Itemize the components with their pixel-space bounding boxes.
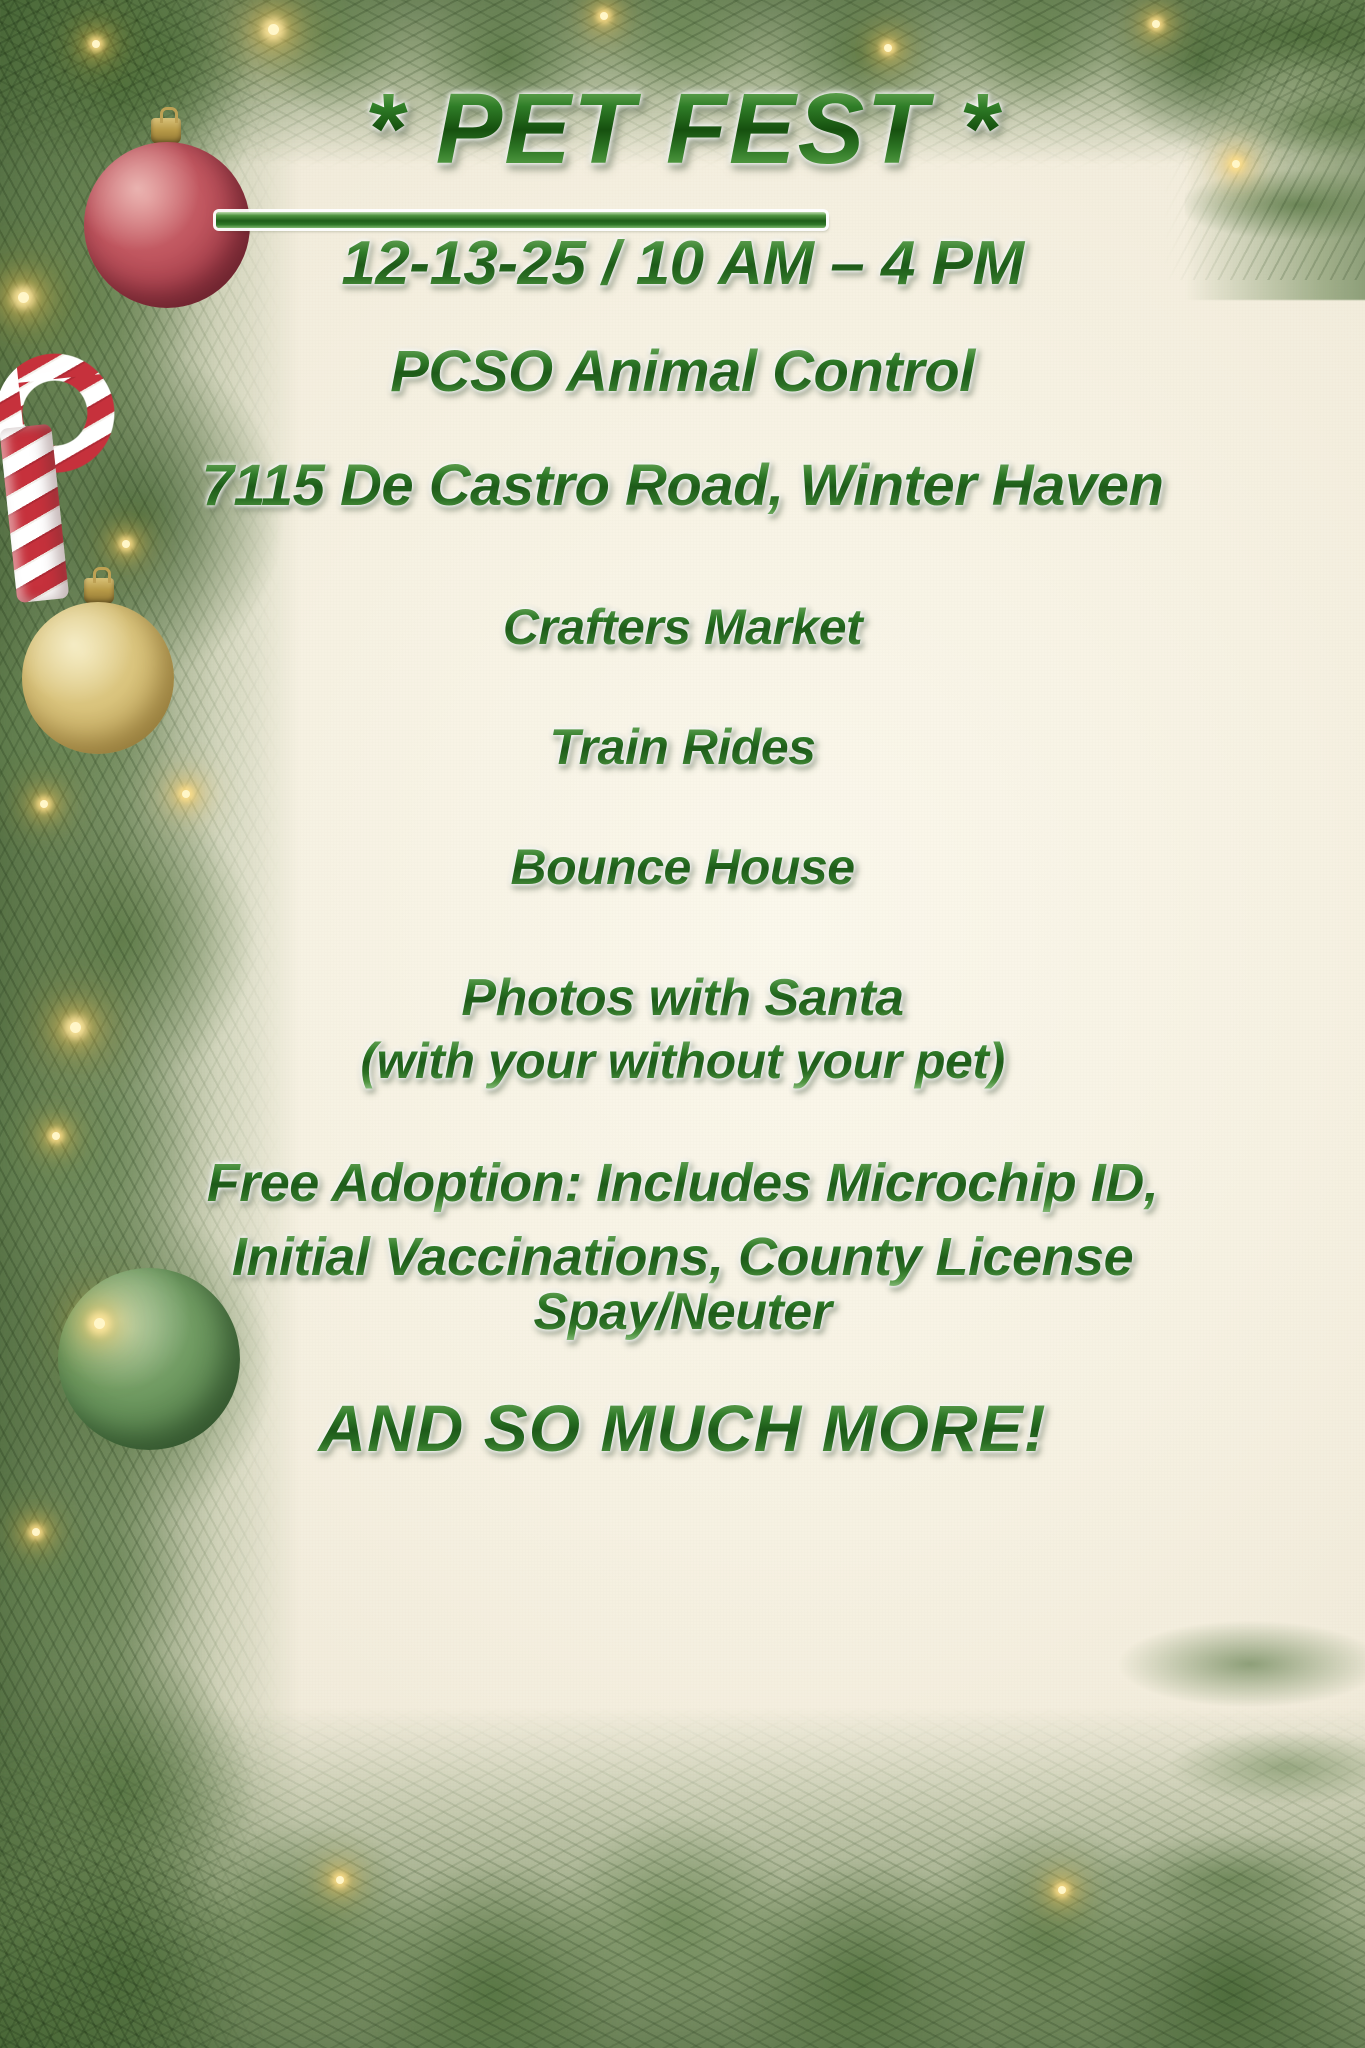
title-divider xyxy=(216,212,826,228)
closing-headline: AND SO MUCH MORE! xyxy=(0,1390,1365,1466)
activity-item-bounce-house: Bounce House xyxy=(0,838,1365,896)
adoption-line-1: Free Adoption: Includes Microchip ID, xyxy=(0,1152,1365,1214)
pet-fest-poster: * PET FEST * 12-13-25 / 10 AM – 4 PM PCS… xyxy=(0,0,1365,2048)
santa-photos-note: (with your without your pet) xyxy=(0,1032,1365,1090)
event-venue: PCSO Animal Control xyxy=(0,338,1365,405)
page-title: * PET FEST * xyxy=(0,72,1365,187)
activity-item-crafters-market: Crafters Market xyxy=(0,598,1365,656)
adoption-line-2: Initial Vaccinations, County License xyxy=(0,1226,1365,1288)
santa-photos-heading: Photos with Santa xyxy=(0,968,1365,1028)
poster-content: * PET FEST * 12-13-25 / 10 AM – 4 PM PCS… xyxy=(0,0,1365,2048)
activity-item-train-rides: Train Rides xyxy=(0,718,1365,776)
adoption-line-3: Spay/Neuter xyxy=(0,1282,1365,1342)
event-date-time: 12-13-25 / 10 AM – 4 PM xyxy=(0,228,1365,299)
event-address: 7115 De Castro Road, Winter Haven xyxy=(0,452,1365,519)
